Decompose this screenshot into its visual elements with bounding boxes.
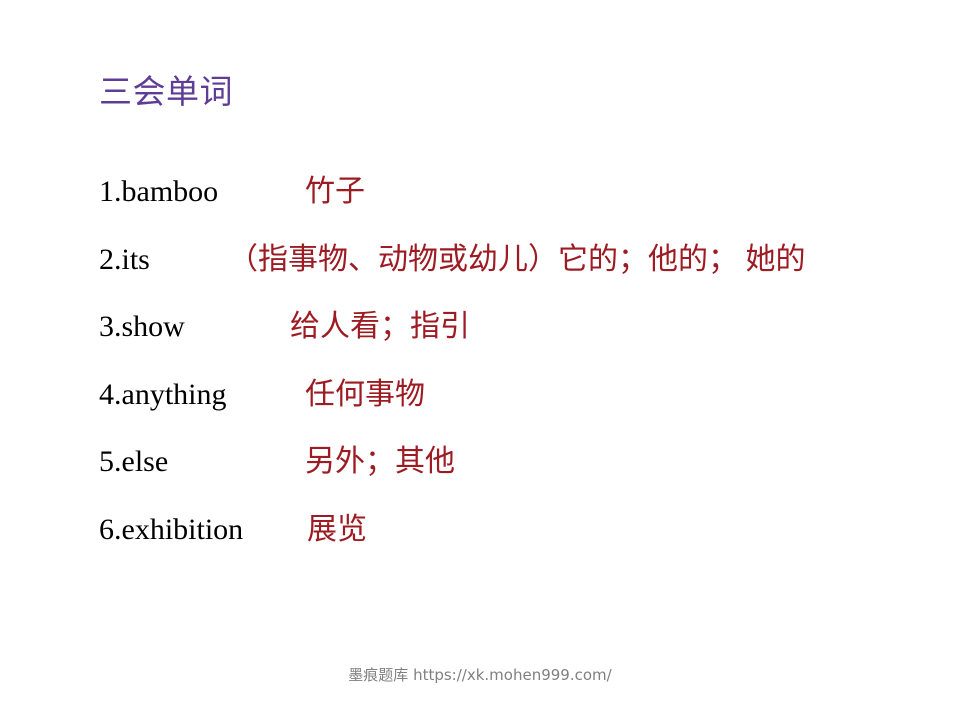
vocabulary-term: 1.bamboo xyxy=(99,170,218,214)
list-item: 6.exhibition 展览 xyxy=(99,508,949,552)
vocabulary-term: 3.show xyxy=(99,305,185,349)
vocabulary-term: 2.its xyxy=(99,238,150,282)
list-item: 3.show 给人看；指引 xyxy=(99,305,949,349)
vocabulary-meaning: 展览 xyxy=(307,508,367,552)
slide-canvas: 三会单词 1.bamboo 竹子 2.its （指事物、动物或幼儿）它的；他的；… xyxy=(0,0,960,720)
list-item: 4.anything 任何事物 xyxy=(99,373,949,417)
vocabulary-term: 4.anything xyxy=(99,373,227,417)
vocabulary-list: 1.bamboo 竹子 2.its （指事物、动物或幼儿）它的；他的； 她的 3… xyxy=(0,0,960,720)
vocabulary-term: 5.else xyxy=(99,440,168,484)
vocabulary-meaning: 竹子 xyxy=(305,170,365,214)
vocabulary-meaning: 另外；其他 xyxy=(305,440,455,484)
list-item: 1.bamboo 竹子 xyxy=(99,170,949,214)
vocabulary-meaning: （指事物、动物或幼儿）它的；他的； 她的 xyxy=(228,238,806,282)
list-item: 5.else 另外；其他 xyxy=(99,440,949,484)
footer-watermark: 墨痕题库 https://xk.mohen999.com/ xyxy=(0,664,960,686)
list-item: 2.its （指事物、动物或幼儿）它的；他的； 她的 xyxy=(99,238,949,282)
vocabulary-meaning: 给人看；指引 xyxy=(290,305,470,349)
vocabulary-meaning: 任何事物 xyxy=(305,373,425,417)
vocabulary-term: 6.exhibition xyxy=(99,508,243,552)
